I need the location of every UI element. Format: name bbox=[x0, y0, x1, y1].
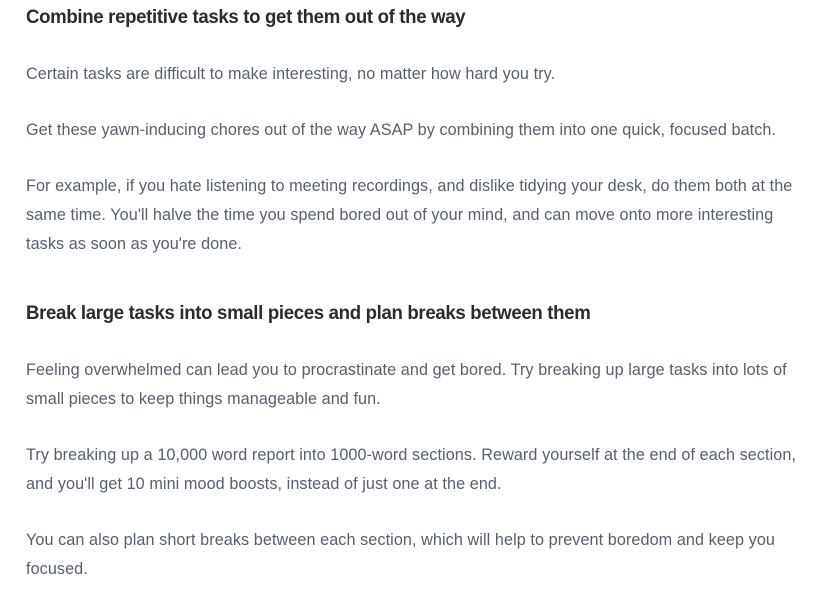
spacer bbox=[26, 326, 805, 356]
article-section-combine-repetitive-tasks: Combine repetitive tasks to get them out… bbox=[26, 0, 805, 259]
spacer bbox=[26, 145, 805, 172]
paragraph: Feeling overwhelmed can lead you to proc… bbox=[26, 356, 805, 414]
article-body: Combine repetitive tasks to get them out… bbox=[0, 0, 821, 584]
paragraph: Get these yawn-inducing chores out of th… bbox=[26, 116, 805, 145]
paragraph: Try breaking up a 10,000 word report int… bbox=[26, 441, 805, 499]
section-heading-break-large-tasks: Break large tasks into small pieces and … bbox=[26, 289, 770, 326]
paragraph: Certain tasks are difficult to make inte… bbox=[26, 60, 805, 89]
section-heading-combine-repetitive-tasks: Combine repetitive tasks to get them out… bbox=[26, 0, 770, 30]
spacer bbox=[26, 414, 805, 441]
paragraph: For example, if you hate listening to me… bbox=[26, 172, 805, 259]
spacer bbox=[26, 89, 805, 116]
spacer bbox=[26, 30, 805, 60]
paragraph: You can also plan short breaks between e… bbox=[26, 526, 805, 584]
spacer bbox=[26, 499, 805, 526]
spacer bbox=[26, 259, 805, 289]
article-section-break-large-tasks: Break large tasks into small pieces and … bbox=[26, 289, 805, 584]
